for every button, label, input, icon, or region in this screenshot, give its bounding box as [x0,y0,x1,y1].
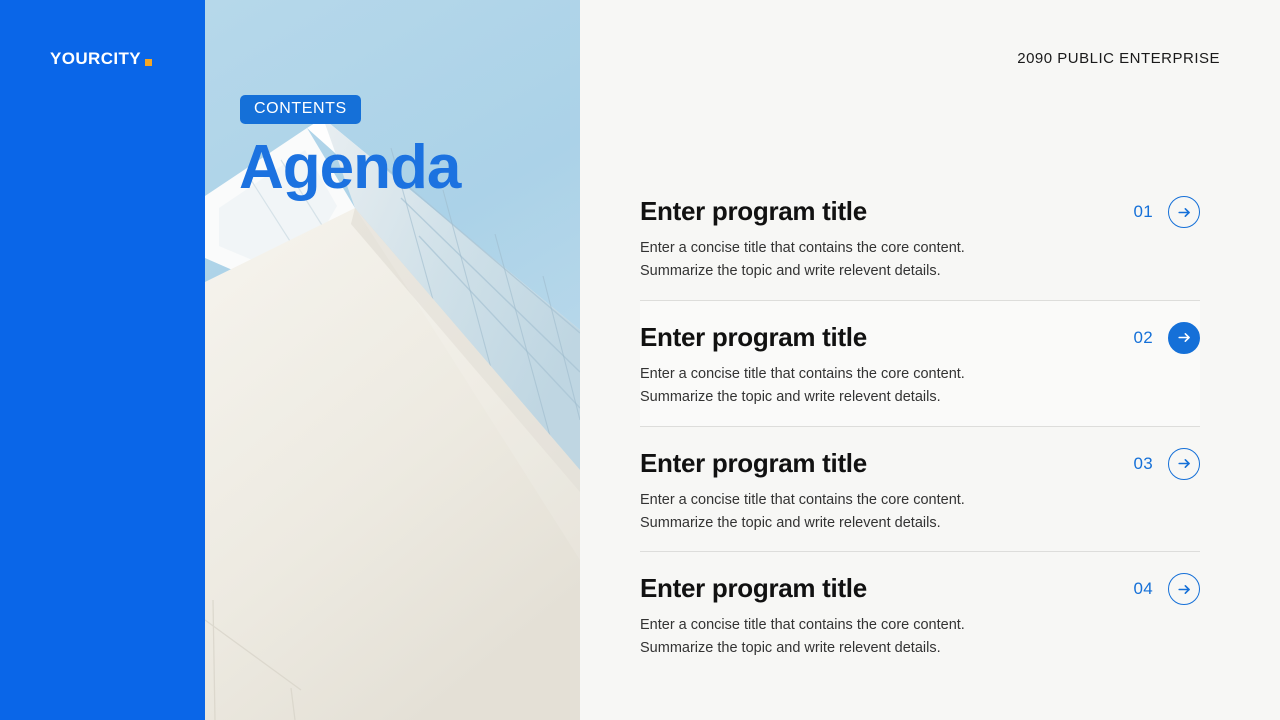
agenda-item-description: Enter a concise title that contains the … [640,237,1200,283]
agenda-item-desc-line2: Summarize the topic and write relevent d… [640,260,1200,283]
agenda-item-description: Enter a concise title that contains the … [640,489,1200,535]
agenda-item-desc-line1: Enter a concise title that contains the … [640,237,1200,260]
logo: YOURCITY [50,50,152,67]
agenda-item-01[interactable]: Enter program title 01 Enter a concise t… [640,196,1200,301]
agenda-item-03[interactable]: Enter program title 03 Enter a concise t… [640,427,1200,553]
agenda-item-04[interactable]: Enter program title 04 Enter a concise t… [640,552,1200,677]
agenda-item-meta: 02 [1133,322,1200,354]
agenda-item-head: Enter program title 02 [640,322,1200,354]
contents-badge: CONTENTS [240,95,361,124]
arrow-right-icon[interactable] [1168,322,1200,354]
hero-photo: CONTENTS Agenda [205,0,580,720]
agenda-item-desc-line1: Enter a concise title that contains the … [640,363,1200,386]
agenda-item-title: Enter program title [640,574,867,604]
agenda-item-head: Enter program title 04 [640,573,1200,605]
agenda-item-number: 02 [1133,328,1153,348]
agenda-item-title: Enter program title [640,323,867,353]
agenda-item-desc-line1: Enter a concise title that contains the … [640,614,1200,637]
agenda-item-description: Enter a concise title that contains the … [640,363,1200,409]
agenda-item-desc-line2: Summarize the topic and write relevent d… [640,386,1200,409]
agenda-item-number: 04 [1133,579,1153,599]
agenda-item-meta: 01 [1133,196,1200,228]
agenda-item-description: Enter a concise title that contains the … [640,614,1200,660]
agenda-slide: YOURCITY [0,0,1280,720]
brand-rail: YOURCITY [0,0,205,720]
agenda-item-number: 01 [1133,202,1153,222]
square-dot-icon [145,59,152,66]
agenda-list: Enter program title 01 Enter a concise t… [640,196,1200,677]
arrow-right-icon[interactable] [1168,448,1200,480]
eyebrow-text: 2090 PUBLIC ENTERPRISE [1017,50,1220,67]
agenda-item-desc-line2: Summarize the topic and write relevent d… [640,512,1200,535]
agenda-item-title: Enter program title [640,449,867,479]
agenda-item-head: Enter program title 03 [640,448,1200,480]
agenda-item-meta: 03 [1133,448,1200,480]
arrow-right-icon[interactable] [1168,196,1200,228]
page-title: Agenda [239,134,460,202]
agenda-item-title: Enter program title [640,197,867,227]
agenda-item-meta: 04 [1133,573,1200,605]
logo-text: YOURCITY [50,50,141,67]
agenda-item-desc-line2: Summarize the topic and write relevent d… [640,637,1200,660]
agenda-item-number: 03 [1133,454,1153,474]
content-panel: 2090 PUBLIC ENTERPRISE Enter program tit… [580,0,1280,720]
agenda-item-head: Enter program title 01 [640,196,1200,228]
arrow-right-icon[interactable] [1168,573,1200,605]
agenda-item-02[interactable]: Enter program title 02 Enter a concise t… [640,301,1200,427]
agenda-item-desc-line1: Enter a concise title that contains the … [640,489,1200,512]
